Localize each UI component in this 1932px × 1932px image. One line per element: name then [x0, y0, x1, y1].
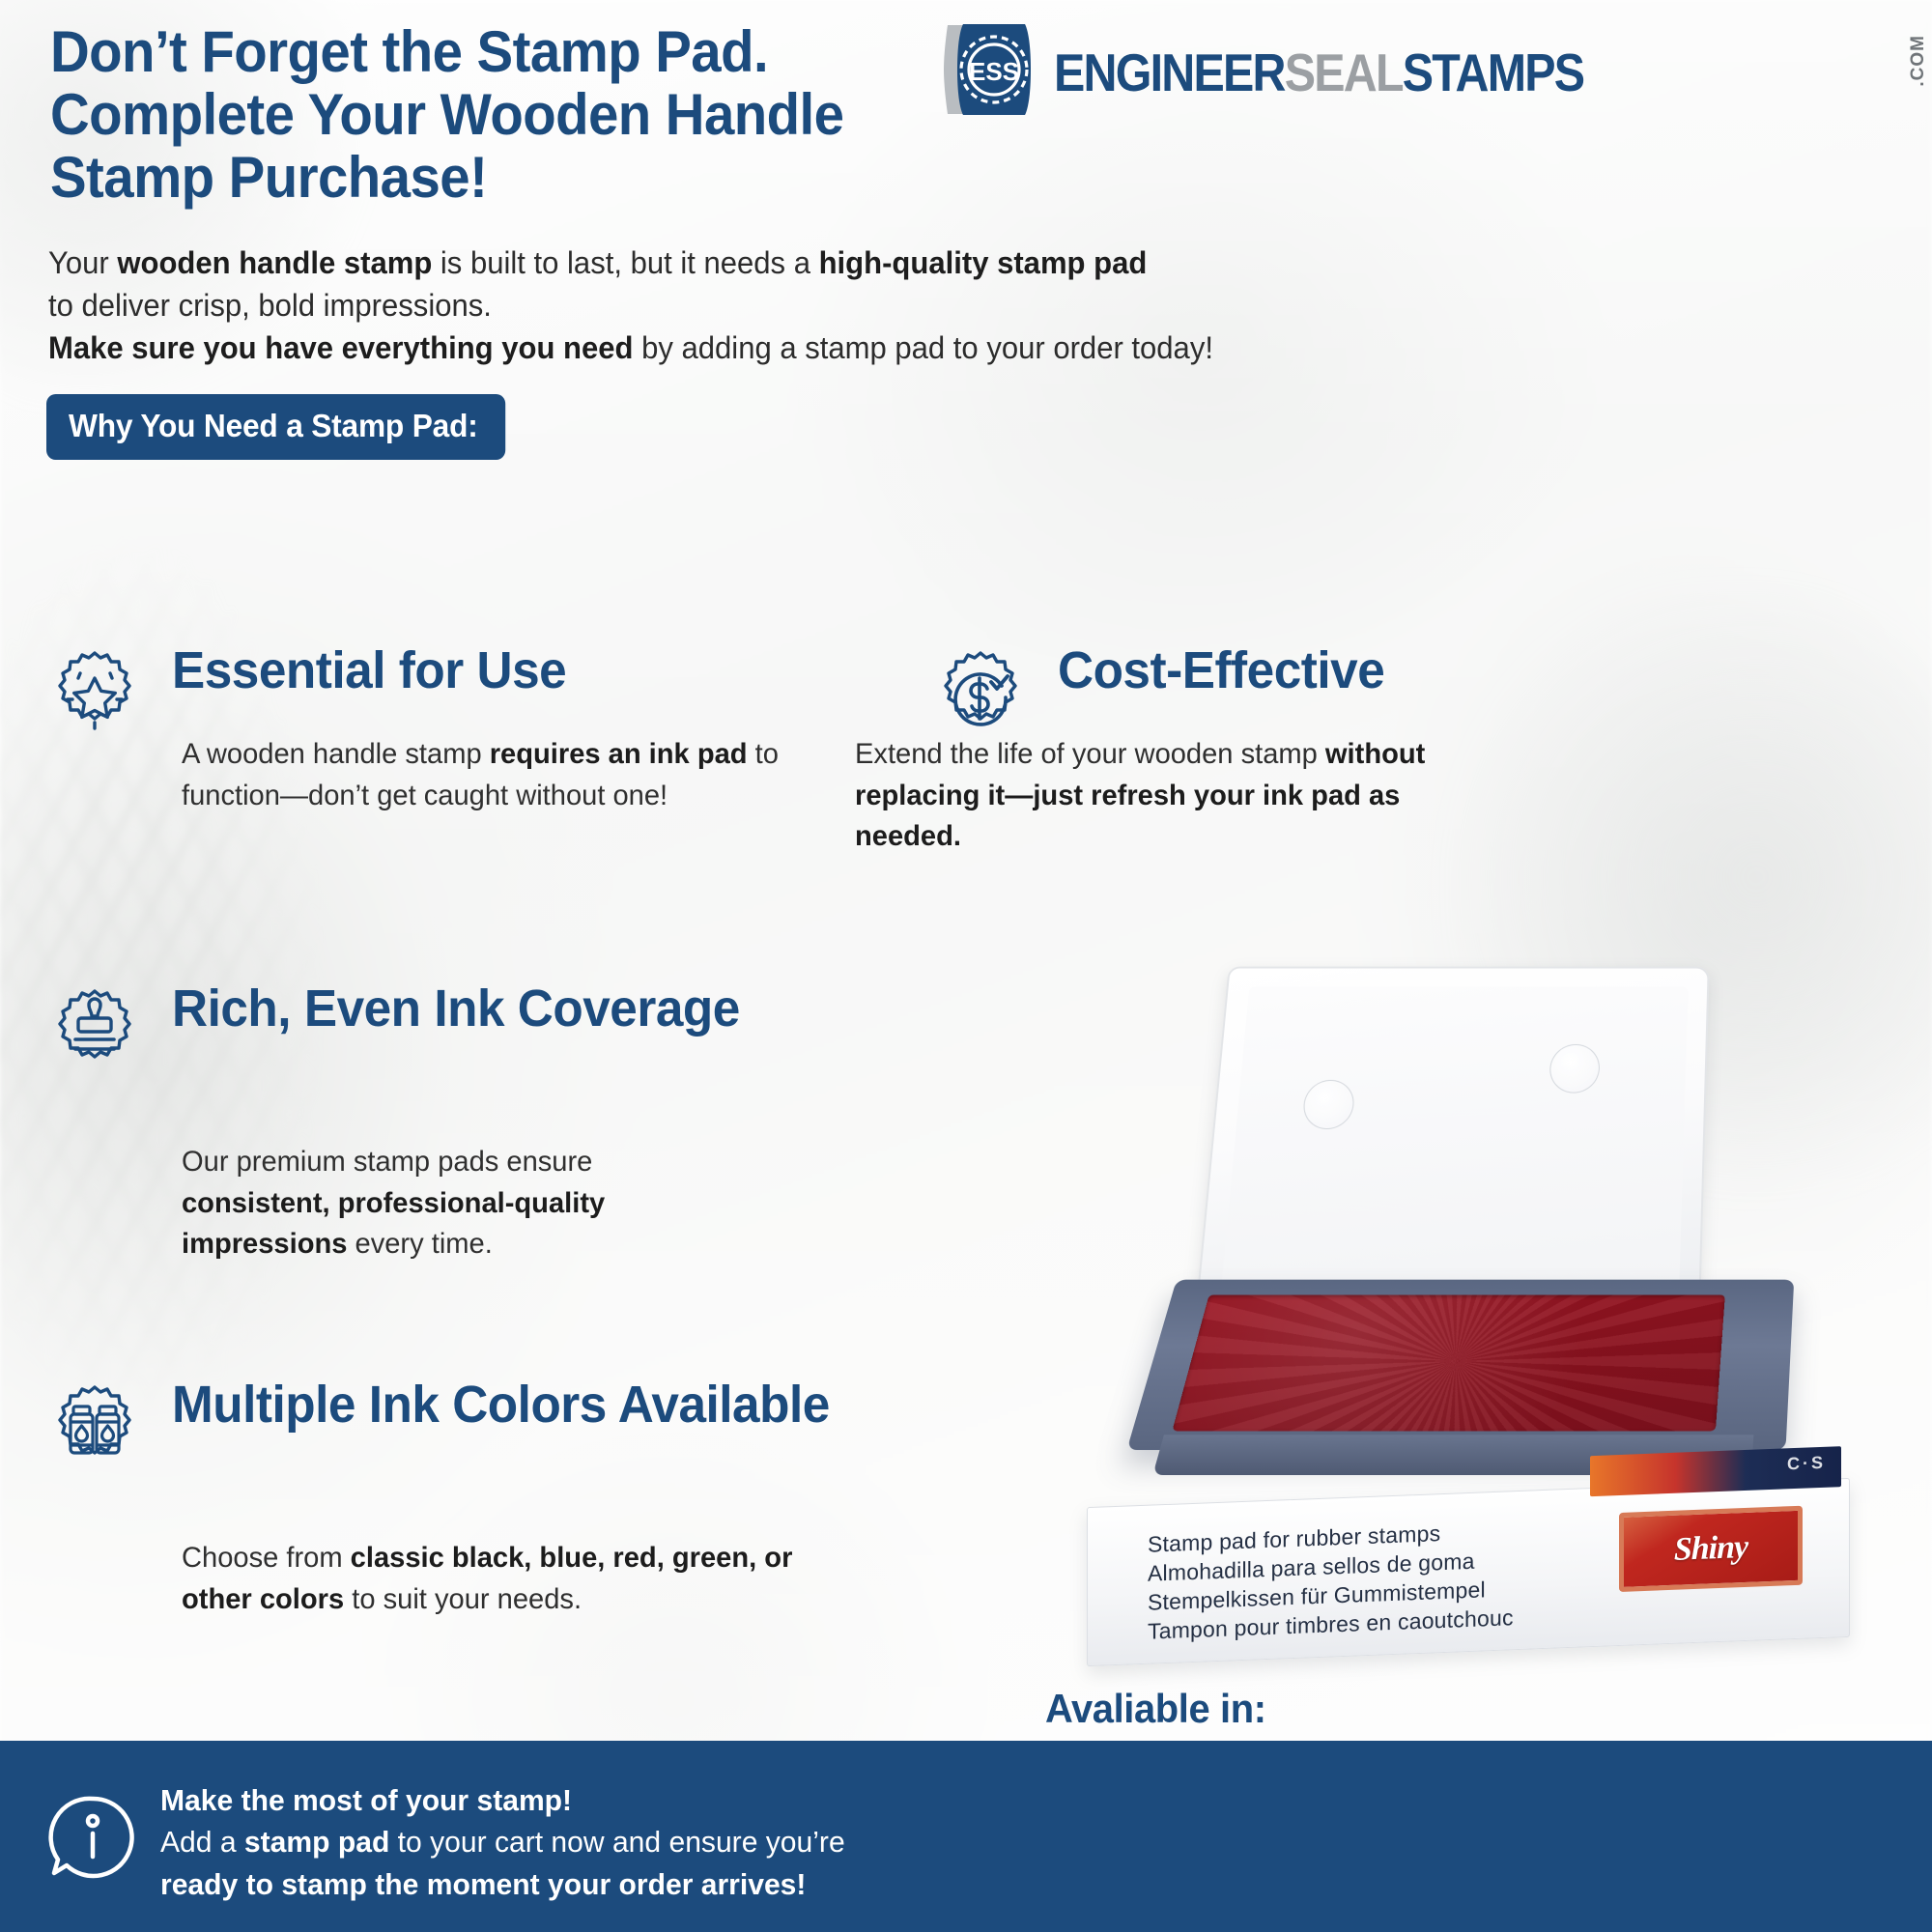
bottom-2a: Add a — [160, 1825, 244, 1859]
intro-line-1: Your wooden handle stamp is built to las… — [48, 241, 1322, 284]
intro-1a: Your — [48, 245, 117, 280]
product-photo-stamp-pad: C·S Stamp pad for rubber stamps Almohadi… — [1067, 952, 1918, 1671]
feature-title: Rich, Even Ink Coverage — [172, 981, 740, 1037]
wordmark-stamps: STAMPS — [1403, 43, 1584, 102]
bottom-line-3: ready to stamp the moment your order arr… — [160, 1863, 1004, 1905]
intro-line-3: Make sure you have everything you need b… — [48, 327, 1322, 369]
intro-3b: by adding a stamp pad to your order toda… — [633, 330, 1212, 365]
badge-stamp-icon — [46, 987, 143, 1084]
shiny-brand-logo: Shiny — [1619, 1506, 1803, 1592]
feature-body-a: Extend the life of your wooden stamp — [855, 738, 1325, 770]
page-title: Don’t Forget the Stamp Pad. Complete You… — [50, 21, 958, 209]
feature-body-b: requires an ink pad — [490, 738, 748, 770]
bottom-callout-text: Make the most of your stamp! Add a stamp… — [160, 1779, 1004, 1905]
feature-title: Multiple Ink Colors Available — [172, 1378, 830, 1433]
product-box: C·S Stamp pad for rubber stamps Almohadi… — [1087, 1478, 1850, 1666]
feature-body-a: Our premium stamp pads ensure — [182, 1146, 592, 1178]
product-box-strip-label: C·S — [1787, 1453, 1826, 1475]
headline-line-1: Don’t Forget the Stamp Pad. — [50, 21, 958, 84]
shiny-brand-text: Shiny — [1674, 1529, 1747, 1569]
feature-body-a: A wooden handle stamp — [182, 738, 490, 770]
badge-star-icon — [46, 649, 143, 746]
bottom-line-2: Add a stamp pad to your cart now and ens… — [160, 1821, 1004, 1862]
intro-1d: high-quality stamp pad — [819, 245, 1148, 280]
why-badge-label: Why You Need a Stamp Pad: — [69, 408, 478, 443]
bottom-2b: stamp pad — [244, 1825, 389, 1859]
why-stamp-pad-badge: Why You Need a Stamp Pad: — [46, 394, 505, 460]
wordmark-tld: .COM — [1908, 35, 1929, 87]
bottom-callout-bar: Make the most of your stamp! Add a stamp… — [0, 1741, 1932, 1932]
wordmark-engineer: ENGINEER — [1054, 43, 1285, 102]
headline-line-3: Stamp Purchase! — [50, 147, 958, 210]
svg-text:ESS: ESS — [969, 57, 1019, 86]
feature-title: Cost-Effective — [1058, 643, 1384, 698]
feature-body-c: to suit your needs. — [344, 1583, 582, 1615]
product-box-color-strip: C·S — [1590, 1446, 1841, 1496]
feature-body-c: every time. — [347, 1228, 492, 1260]
intro-1c: is built to last, but it needs a — [432, 245, 818, 280]
intro-paragraph: Your wooden handle stamp is built to las… — [48, 241, 1322, 369]
badge-ink-bottles-icon — [46, 1383, 143, 1480]
infographic-page: Don’t Forget the Stamp Pad. Complete You… — [0, 0, 1932, 1932]
intro-line-2: to deliver crisp, bold impressions. — [48, 284, 1322, 327]
feature-body-a: Choose from — [182, 1542, 351, 1574]
brand-logo[interactable]: ESS ENGINEERSEALSTAMPS .COM — [942, 21, 1908, 118]
product-box-text: Stamp pad for rubber stamps Almohadilla … — [1148, 1517, 1514, 1646]
stamp-pad-lid — [1195, 967, 1709, 1313]
headline-line-2: Complete Your Wooden Handle — [50, 84, 958, 147]
feature-title: Essential for Use — [172, 643, 566, 698]
intro-1b: wooden handle stamp — [117, 245, 432, 280]
feature-body: Extend the life of your wooden stamp wit… — [855, 734, 1511, 858]
badge-dollar-check-icon — [932, 649, 1029, 746]
bottom-line-1: Make the most of your stamp! — [160, 1779, 1004, 1821]
feature-body: Our premium stamp pads ensure consistent… — [182, 1142, 706, 1265]
available-in-title: Avaliable in: — [1045, 1686, 1266, 1732]
brand-wordmark: ENGINEERSEALSTAMPS — [1054, 46, 1583, 99]
bottom-2c: to your cart now and ensure you’re — [389, 1825, 844, 1859]
info-bubble-icon — [44, 1789, 141, 1886]
stamp-pad-ink-surface — [1172, 1294, 1724, 1431]
bottom-3a: ready to stamp the moment your order arr… — [160, 1867, 806, 1901]
stamp-pad-lid-inner — [1221, 986, 1689, 1293]
ess-shield-icon: ESS — [942, 21, 1046, 118]
wordmark-seal: SEAL — [1285, 43, 1403, 102]
intro-3a: Make sure you have everything you need — [48, 330, 633, 365]
feature-body: A wooden handle stamp requires an ink pa… — [182, 734, 800, 816]
feature-body: Choose from classic black, blue, red, gr… — [182, 1538, 838, 1620]
